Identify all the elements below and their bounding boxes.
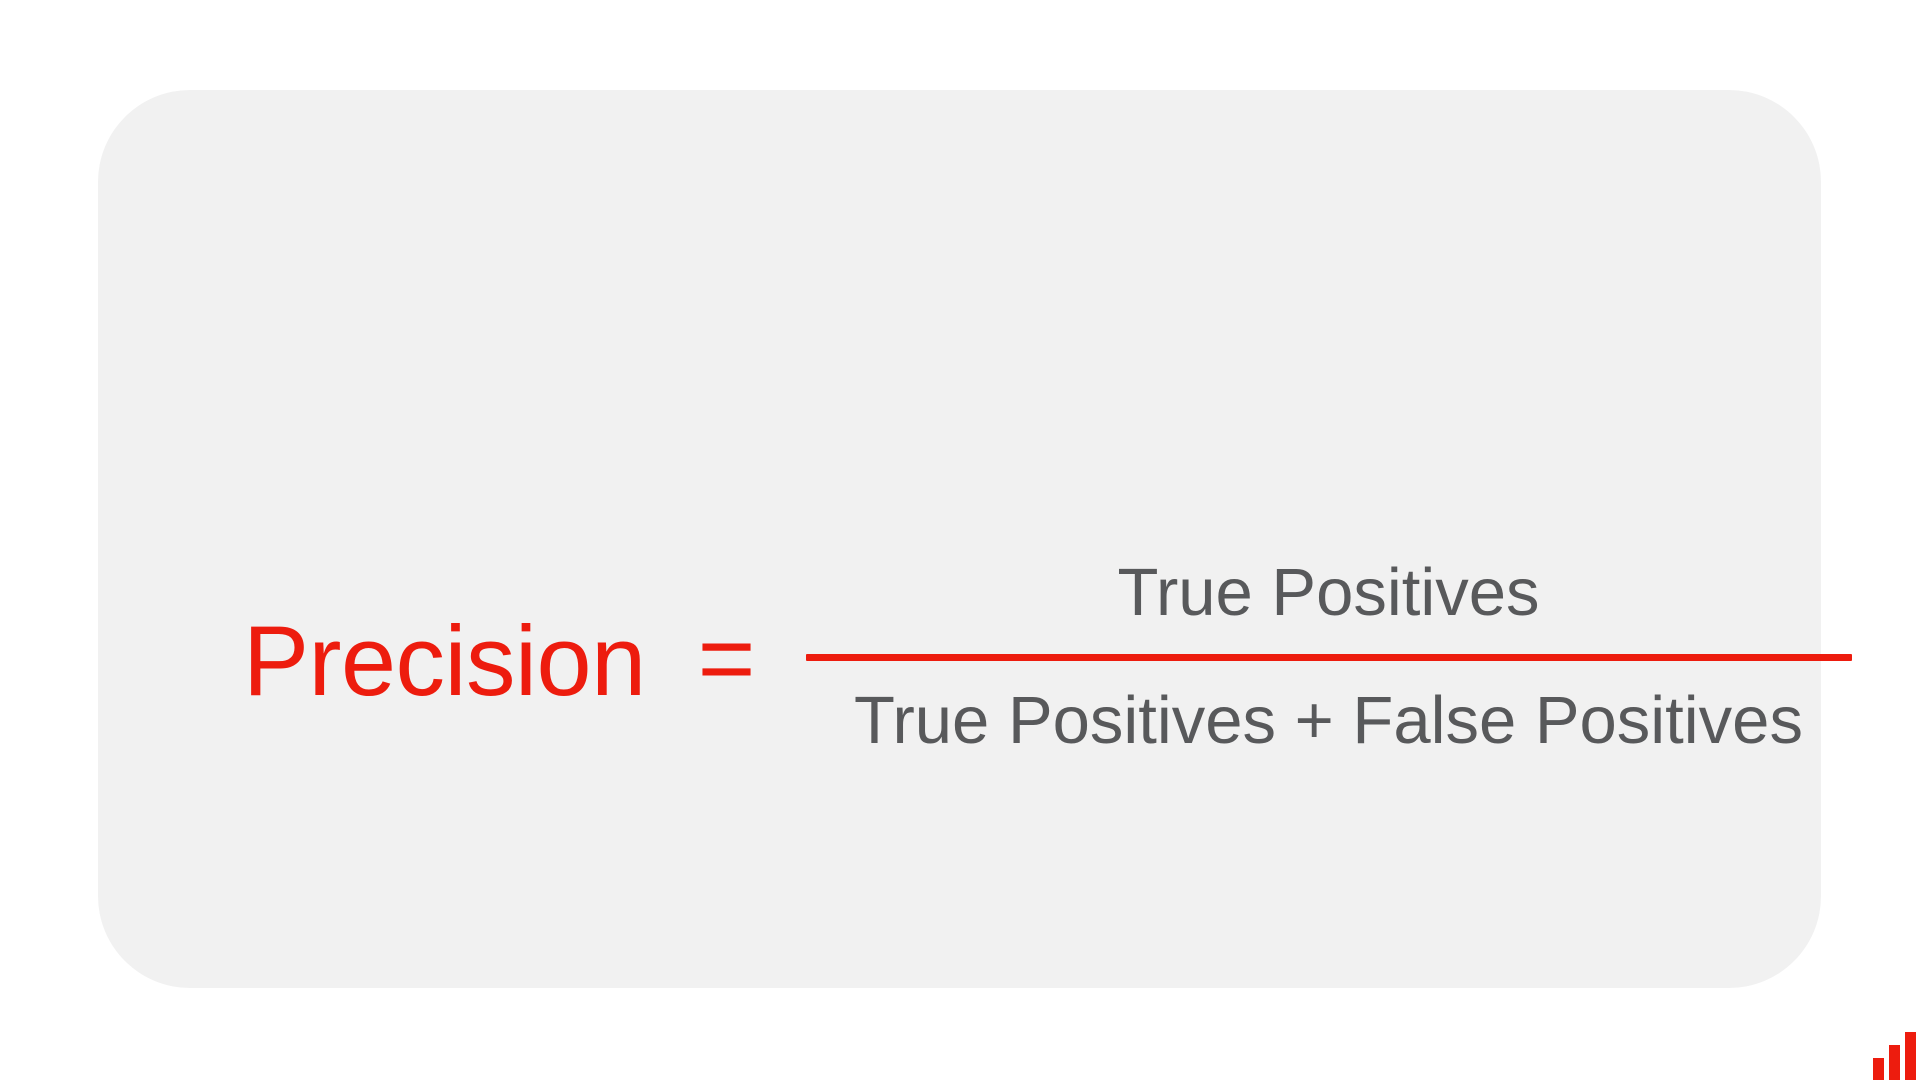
precision-label: Precision <box>243 611 646 710</box>
equals-sign: = <box>698 608 756 707</box>
slide-canvas: Precision = True Positives True Positive… <box>0 0 1919 1080</box>
logo-bar-1 <box>1873 1058 1884 1080</box>
precision-formula: Precision = True Positives True Positive… <box>243 520 1903 800</box>
bar-chart-logo <box>1873 1032 1919 1080</box>
fraction-denominator: True Positives + False Positives <box>854 661 1803 754</box>
formula-card: Precision = True Positives True Positive… <box>98 90 1821 988</box>
logo-bar-3 <box>1905 1032 1916 1080</box>
fraction-numerator: True Positives <box>1118 559 1540 654</box>
logo-bar-2 <box>1889 1045 1900 1080</box>
fraction-bar <box>806 654 1852 661</box>
fraction: True Positives True Positives + False Po… <box>806 559 1852 754</box>
